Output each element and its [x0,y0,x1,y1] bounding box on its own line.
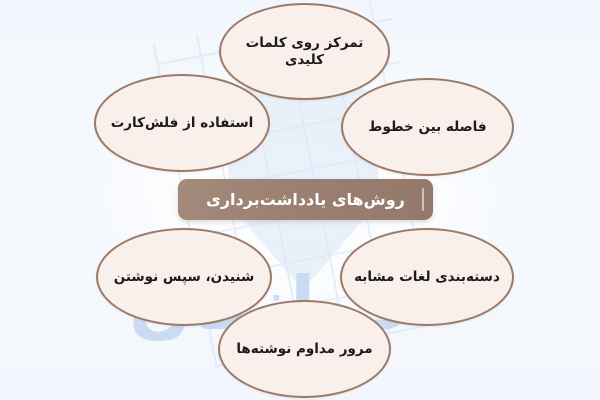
center-title-bar[interactable]: روش‌های یادداشت‌برداری [178,179,433,220]
node-listen-then-write[interactable]: شنیدن، سپس نوشتن [96,228,272,326]
node-line-spacing[interactable]: فاصله بین خطوط [341,78,514,176]
node-label: فاصله بین خطوط [355,119,500,136]
node-label: استفاده از فلش‌کارت [108,115,256,132]
node-group-similar-words[interactable]: دسته‌بندی لغات مشابه [340,228,514,326]
center-bar-accent-line [422,188,424,211]
node-continuous-review[interactable]: مرور مداوم نوشته‌ها [218,300,391,398]
node-label: مرور مداوم نوشته‌ها [232,341,377,358]
node-label: دسته‌بندی لغات مشابه [354,269,500,286]
node-label: تمرکز روی کلمات کلیدی [233,35,376,69]
node-label: شنیدن، سپس نوشتن [110,269,258,286]
center-title-label: روش‌های یادداشت‌برداری [206,190,405,209]
node-use-flashcards[interactable]: استفاده از فلش‌کارت [94,74,270,172]
node-focus-on-keywords[interactable]: تمرکز روی کلمات کلیدی [219,3,390,100]
diagram-canvas: فرازبان تمرکز روی کلمات کلیدی استفاده از… [0,0,600,400]
